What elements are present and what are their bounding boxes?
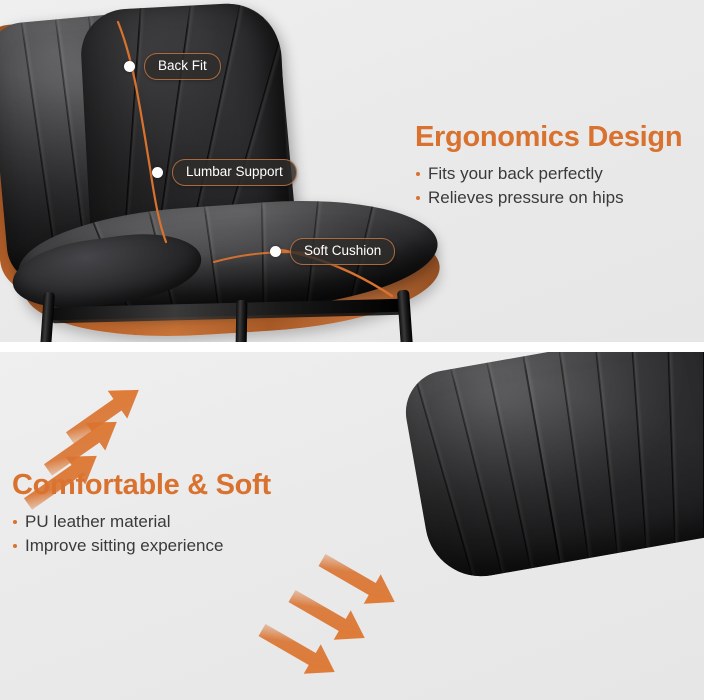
- black-metal-leg-center: [236, 300, 248, 342]
- callout-dot-icon: [152, 167, 163, 178]
- callout-back-fit[interactable]: Back Fit: [124, 53, 221, 80]
- comfort-bullet-list: PU leather material Improve sitting expe…: [12, 510, 271, 558]
- callout-lumbar-support[interactable]: Lumbar Support: [152, 159, 297, 186]
- panel-comfort: Comfortable & Soft PU leather material I…: [0, 352, 704, 700]
- panel-ergonomics: Back Fit Lumbar Support Soft Cushion Erg…: [0, 0, 704, 342]
- callout-lumbar-support-label: Lumbar Support: [172, 159, 297, 186]
- comfort-bullet-2: Improve sitting experience: [12, 534, 271, 558]
- comfort-copy-block: Comfortable & Soft PU leather material I…: [12, 468, 271, 558]
- ergonomics-headline: Ergonomics Design: [415, 120, 682, 154]
- product-feature-image: Back Fit Lumbar Support Soft Cushion Erg…: [0, 0, 704, 700]
- ergonomics-bullet-list: Fits your back perfectly Relieves pressu…: [415, 162, 682, 210]
- callout-dot-icon: [124, 61, 135, 72]
- comfort-headline: Comfortable & Soft: [12, 468, 271, 502]
- ergonomics-copy-block: Ergonomics Design Fits your back perfect…: [415, 120, 682, 210]
- panel-divider: [0, 342, 704, 352]
- ergonomics-bullet-2: Relieves pressure on hips: [415, 186, 682, 210]
- callout-back-fit-label: Back Fit: [144, 53, 221, 80]
- callout-soft-cushion[interactable]: Soft Cushion: [270, 238, 395, 265]
- callout-dot-icon: [270, 246, 281, 257]
- comfort-bullet-1: PU leather material: [12, 510, 271, 534]
- ergonomics-bullet-1: Fits your back perfectly: [415, 162, 682, 186]
- callout-soft-cushion-label: Soft Cushion: [290, 238, 395, 265]
